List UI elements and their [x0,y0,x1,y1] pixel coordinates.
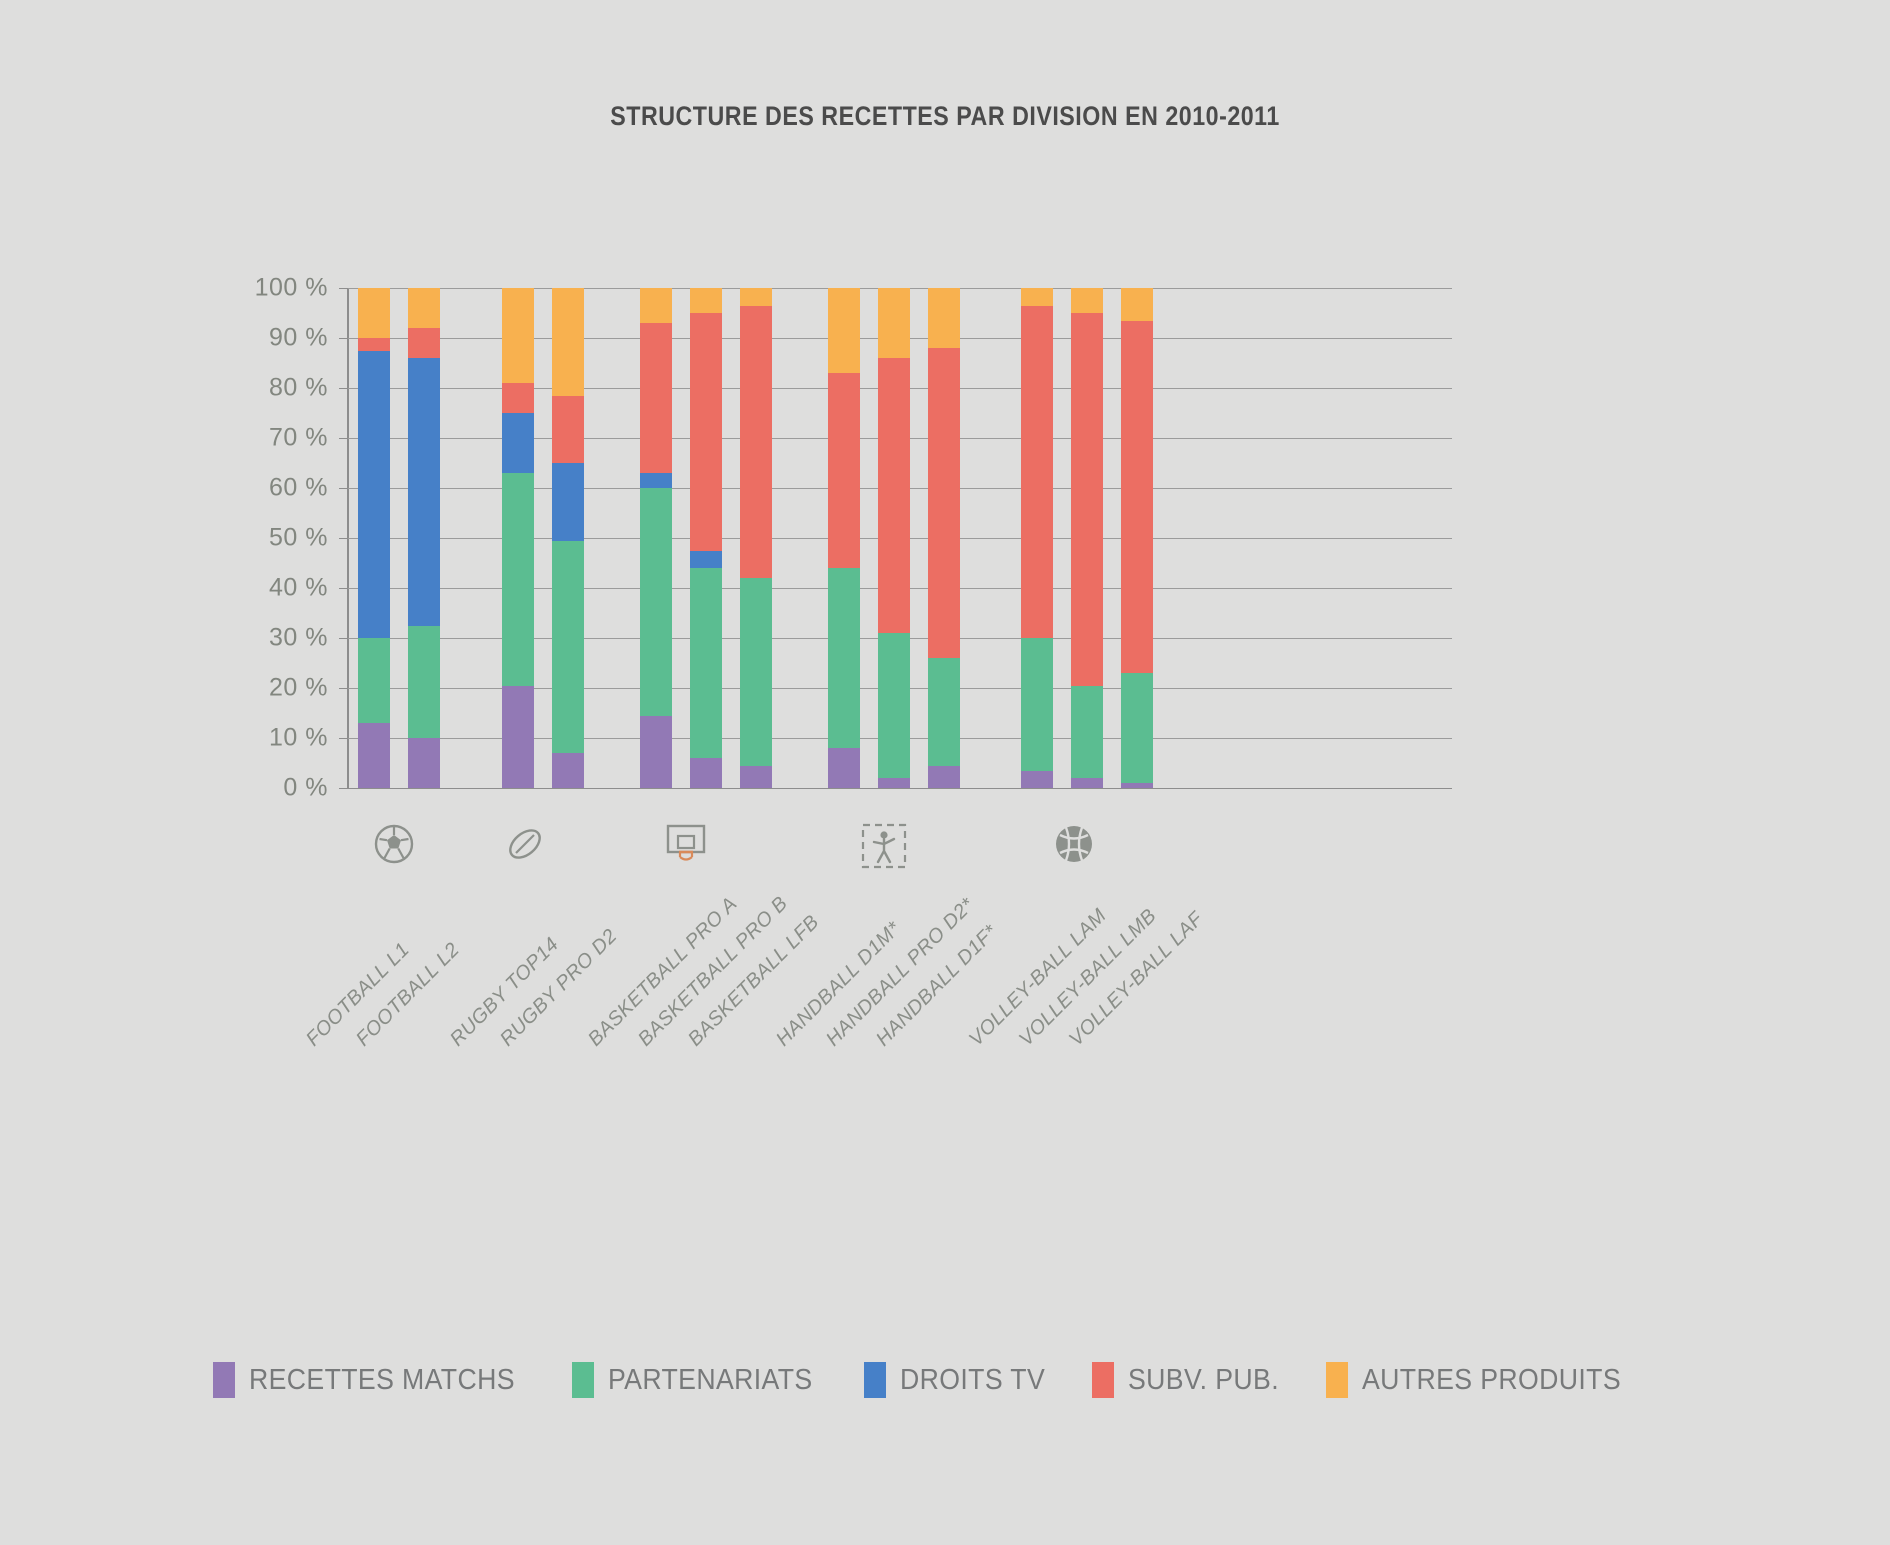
legend-swatch [572,1362,594,1398]
bar-segment-autres-produits [552,288,584,396]
y-tick-label: 20 % [269,674,328,703]
bar-segment-partenariats [358,638,390,723]
x-tick-label: BASKETBALL PRO B [634,892,793,1051]
bar-segment-autres-produits [408,288,440,328]
bar-segment-partenariats [1121,673,1153,783]
y-tick-label: 70 % [269,424,328,453]
y-tick-label: 50 % [269,524,328,553]
y-tick-mark [339,788,348,789]
x-tick-label: RUGBY TOP14 [446,933,564,1051]
bar-segment-droits-tv [358,351,390,639]
bar-football-l2 [408,288,440,788]
bar-segment-partenariats [1021,638,1053,771]
basketball-hoop-icon [660,822,712,871]
bar-segment-subv-pub [740,306,772,579]
bar-handball-d1f [928,288,960,788]
x-tick-label: BASKETBALL PRO A [584,893,742,1051]
page-title: STRUCTURE DES RECETTES PAR DIVISION EN 2… [132,101,1757,132]
soccer-ball-icon [372,822,416,871]
bar-segment-partenariats [878,633,910,778]
x-tick-label: VOLLEY-BALL LAF [1065,908,1208,1051]
bar-basketball-pro-b [690,288,722,788]
y-tick-mark [339,388,348,389]
bar-segment-partenariats [928,658,960,766]
bar-segment-subv-pub [1021,306,1053,639]
legend-swatch [1326,1362,1348,1398]
bar-segment-autres-produits [1021,288,1053,306]
y-tick-mark [339,488,348,489]
bar-segment-recettes-matchs [358,723,390,788]
bar-segment-recettes-matchs [878,778,910,788]
handball-player-icon [859,822,909,875]
bar-segment-subv-pub [1071,313,1103,686]
bar-segment-autres-produits [1071,288,1103,313]
bar-segment-partenariats [1071,686,1103,779]
bar-segment-recettes-matchs [1121,783,1153,788]
bar-segment-subv-pub [1121,321,1153,674]
x-tick-label: BASKETBALL LFB [684,911,824,1051]
bar-segment-partenariats [690,568,722,758]
y-tick-mark [339,288,348,289]
bar-segment-partenariats [408,626,440,739]
bar-segment-autres-produits [358,288,390,338]
bar-segment-subv-pub [552,396,584,464]
y-tick-label: 0 % [283,774,328,803]
legend-label: DROITS TV [900,1364,1045,1397]
x-tick-label: VOLLEY-BALL LAM [965,905,1112,1052]
bar-segment-subv-pub [828,373,860,568]
bar-segment-subv-pub [690,313,722,551]
legend-item: AUTRES PRODUITS [1326,1362,1644,1398]
legend-item: DROITS TV [864,1362,1058,1398]
legend-swatch [213,1362,235,1398]
bar-segment-subv-pub [358,338,390,351]
legend-label: AUTRES PRODUITS [1362,1364,1621,1397]
y-tick-mark [339,438,348,439]
legend-label: RECETTES MATCHS [249,1364,515,1397]
bar-segment-subv-pub [928,348,960,658]
bar-segment-recettes-matchs [690,758,722,788]
bar-segment-recettes-matchs [408,738,440,788]
bar-segment-recettes-matchs [928,766,960,789]
bar-segment-autres-produits [690,288,722,313]
bar-segment-recettes-matchs [740,766,772,789]
bar-segment-autres-produits [502,288,534,383]
bar-segment-droits-tv [502,413,534,473]
x-tick-label: RUGBY PRO D2 [496,925,622,1051]
chart-legend: RECETTES MATCHSPARTENARIATSDROITS TVSUBV… [0,1362,1890,1398]
bar-segment-subv-pub [502,383,534,413]
bar-segment-recettes-matchs [502,686,534,789]
bar-basketball-pro-a [640,288,672,788]
bar-rugby-pro-d2 [552,288,584,788]
y-tick-mark [339,338,348,339]
bar-segment-partenariats [828,568,860,748]
legend-label: PARTENARIATS [608,1364,813,1397]
y-tick-label: 30 % [269,624,328,653]
bar-segment-autres-produits [928,288,960,348]
bar-segment-subv-pub [640,323,672,473]
y-tick-mark [339,538,348,539]
y-tick-label: 100 % [255,274,328,303]
bar-segment-partenariats [502,473,534,686]
y-tick-label: 40 % [269,574,328,603]
legend-item: SUBV. PUB. [1092,1362,1292,1398]
y-tick-mark [339,688,348,689]
bar-football-l1 [358,288,390,788]
x-tick-label: HANDBALL D1F* [872,921,1003,1052]
bar-segment-recettes-matchs [1071,778,1103,788]
rugby-ball-icon [503,822,547,871]
bar-segment-autres-produits [740,288,772,306]
bar-segment-recettes-matchs [640,716,672,789]
bar-handball-d1m [828,288,860,788]
bar-segment-droits-tv [552,463,584,541]
gridline [348,788,1452,789]
bar-segment-partenariats [740,578,772,766]
y-tick-label: 10 % [269,724,328,753]
bar-handball-pro-d2 [878,288,910,788]
bar-segment-droits-tv [690,551,722,569]
y-axis-labels: 100 %90 %80 %70 %60 %50 %40 %30 %20 %10 … [210,288,328,788]
bar-segment-autres-produits [878,288,910,358]
y-tick-mark [339,588,348,589]
bar-segment-autres-produits [828,288,860,373]
bar-rugby-top14 [502,288,534,788]
legend-label: SUBV. PUB. [1128,1364,1279,1397]
bar-volley-ball-lam [1021,288,1053,788]
bar-segment-autres-produits [1121,288,1153,321]
x-tick-label: FOOTBALL L2 [352,939,465,1052]
bar-segment-recettes-matchs [552,753,584,788]
y-tick-label: 80 % [269,374,328,403]
legend-swatch [1092,1362,1114,1398]
legend-item: PARTENARIATS [572,1362,830,1398]
bar-segment-autres-produits [640,288,672,323]
bar-basketball-lfb [740,288,772,788]
legend-item: RECETTES MATCHS [213,1362,538,1398]
bar-segment-subv-pub [878,358,910,633]
bar-segment-droits-tv [640,473,672,488]
legend-swatch [864,1362,886,1398]
y-tick-mark [339,638,348,639]
bar-segment-droits-tv [408,358,440,626]
x-tick-label: FOOTBALL L1 [302,939,415,1052]
bar-segment-recettes-matchs [1021,771,1053,789]
bar-segment-recettes-matchs [828,748,860,788]
bar-segment-partenariats [552,541,584,754]
bar-segment-partenariats [640,488,672,716]
bar-volley-ball-laf [1121,288,1153,788]
y-tick-label: 60 % [269,474,328,503]
bar-segment-subv-pub [408,328,440,358]
bar-volley-ball-lmb [1071,288,1103,788]
y-tick-label: 90 % [269,324,328,353]
plot-area [348,288,1452,788]
x-tick-label: VOLLEY-BALL LMB [1015,905,1162,1052]
y-tick-mark [339,738,348,739]
x-tick-label: HANDBALL PRO D2* [822,894,979,1051]
volleyball-icon [1052,822,1096,871]
x-tick-label: HANDBALL D1M* [772,918,906,1052]
